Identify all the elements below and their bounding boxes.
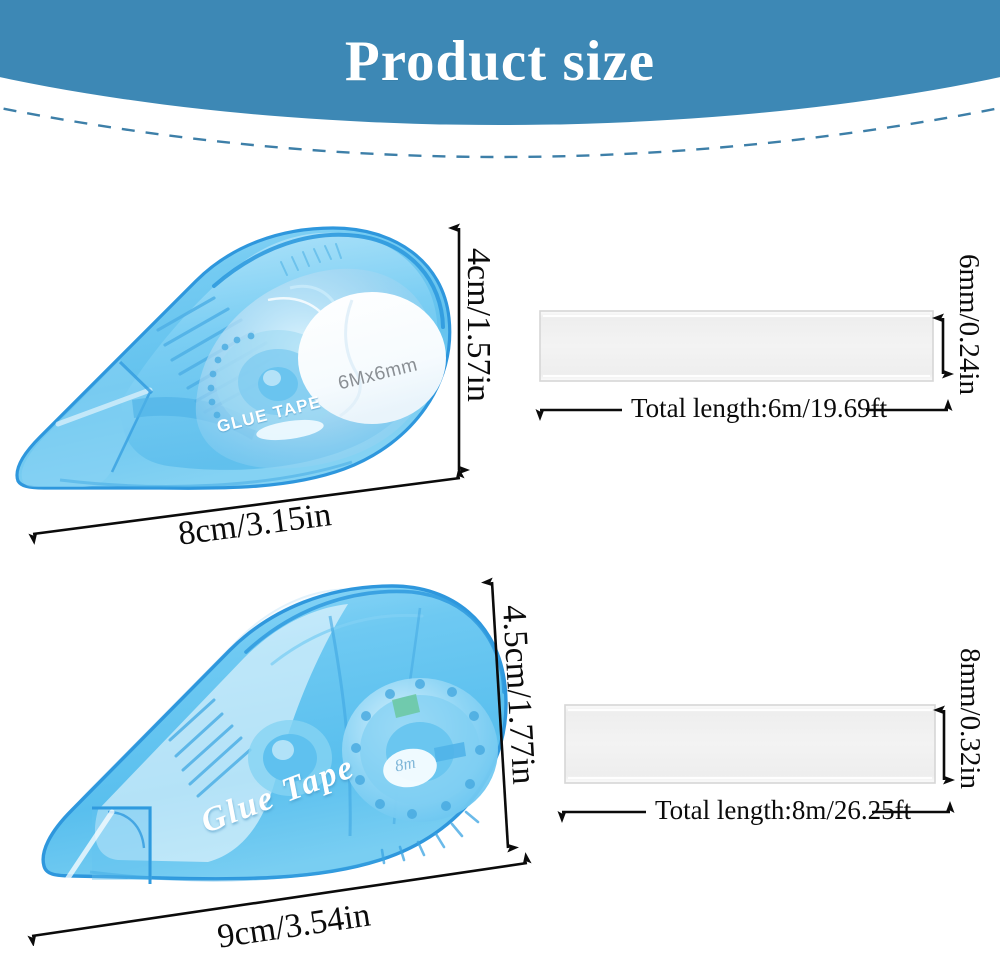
tape-strip-2 [565, 705, 935, 783]
product-size-infographic: Product size [0, 0, 1000, 946]
tape-strip-1 [540, 311, 933, 381]
product-1-height-label: 4cm/1.57in [459, 248, 497, 402]
tape-2-length-label: Total length:8m/26.25ft [655, 795, 911, 826]
tape-1-length-label: Total length:6m/19.69ft [631, 393, 887, 424]
page-title: Product size [0, 33, 1000, 90]
tape-1-width-label: 6mm/0.24in [952, 254, 985, 395]
product-2-disc-text: 8m [393, 753, 417, 777]
tape-2-width-label: 8mm/0.32in [953, 648, 986, 789]
